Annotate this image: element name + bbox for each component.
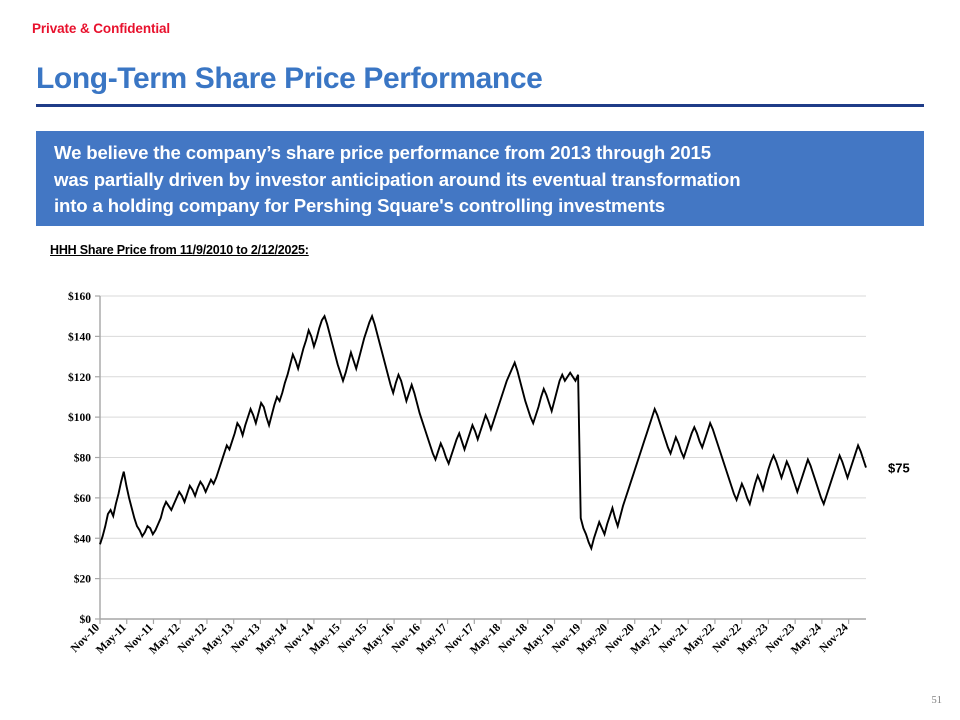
x-axis-tick-label: May-16 <box>361 621 396 656</box>
x-axis-labels: Nov-10May-11Nov-11May-12Nov-12May-13Nov-… <box>69 621 851 656</box>
share-price-chart: $0$20$40$60$80$100$120$140$160 Nov-10May… <box>0 0 960 720</box>
x-axis-tick-label: May-24 <box>789 621 824 656</box>
y-axis-tick-label: $100 <box>68 411 91 424</box>
price-series-line <box>100 316 866 548</box>
chart-gridlines <box>100 296 866 619</box>
x-axis-tick-label: May-21 <box>628 621 663 656</box>
chart-svg: $0$20$40$60$80$100$120$140$160 Nov-10May… <box>0 0 960 720</box>
y-axis-tick-label: $80 <box>74 452 92 465</box>
x-axis-tick-label: May-11 <box>94 621 129 656</box>
y-axis-tick-label: $140 <box>68 330 91 343</box>
y-axis-labels: $0$20$40$60$80$100$120$140$160 <box>68 290 91 626</box>
x-axis-tick-label: May-22 <box>682 621 717 656</box>
end-value-annotation: $75 <box>888 461 910 476</box>
x-axis-tick-label: May-20 <box>575 621 610 656</box>
x-axis-tick-label: May-13 <box>201 621 236 656</box>
y-axis-tick-label: $40 <box>74 532 92 545</box>
y-axis-tick-label: $0 <box>80 613 92 626</box>
x-axis-tick-label: May-17 <box>415 621 450 656</box>
y-axis-tick-label: $120 <box>68 371 91 384</box>
x-axis-tick-label: May-15 <box>308 621 343 656</box>
x-axis-tick-label: May-19 <box>522 621 557 656</box>
x-axis-tick-label: May-18 <box>468 621 503 656</box>
x-axis-tick-label: Nov-24 <box>817 621 851 655</box>
x-axis-tick-label: May-14 <box>254 621 289 656</box>
chart-tickmarks <box>95 296 849 624</box>
x-axis-tick-label: May-12 <box>147 621 182 656</box>
page-number: 51 <box>932 695 943 706</box>
y-axis-tick-label: $160 <box>68 290 91 303</box>
x-axis-tick-label: May-23 <box>735 621 770 656</box>
y-axis-tick-label: $20 <box>74 573 92 586</box>
y-axis-tick-label: $60 <box>74 492 92 505</box>
